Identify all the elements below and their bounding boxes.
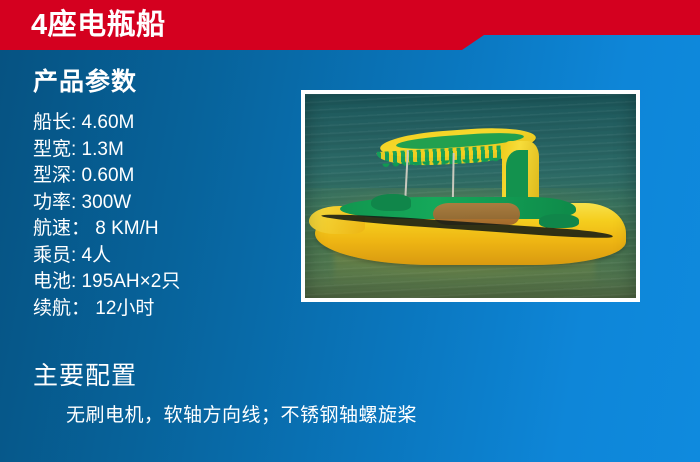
section-heading-parameters: 产品参数: [33, 62, 137, 98]
spec-row-battery: 电池: 195AH×2只: [33, 269, 283, 296]
spec-row-beam: 型宽: 1.3M: [33, 137, 283, 164]
section-heading-configuration: 主要配置: [33, 356, 137, 392]
product-photo: [305, 94, 636, 298]
spec-row-depth: 型深: 0.60M: [33, 163, 283, 190]
boat-illustration: [315, 129, 626, 284]
configuration-text: 无刷电机，软轴方向线；不锈钢轴螺旋桨: [66, 400, 417, 427]
spec-row-power: 功率: 300W: [33, 190, 283, 217]
boat-front-seat: [371, 194, 411, 211]
boat-rear-seat: [539, 214, 579, 228]
spec-list: 船长: 4.60M 型宽: 1.3M 型深: 0.60M 功率: 300W 航速…: [33, 110, 283, 322]
spec-row-length: 船长: 4.60M: [33, 110, 283, 137]
page-title: 4座电瓶船: [31, 6, 166, 44]
spec-row-capacity: 乘员: 4人: [33, 243, 283, 270]
product-spec-card: 4座电瓶船 产品参数 船长: 4.60M 型宽: 1.3M 型深: 0.60M …: [0, 0, 700, 462]
product-photo-frame: [301, 90, 640, 302]
spec-row-endurance: 续航： 12小时: [33, 296, 283, 323]
spec-row-speed: 航速： 8 KM/H: [33, 216, 283, 243]
